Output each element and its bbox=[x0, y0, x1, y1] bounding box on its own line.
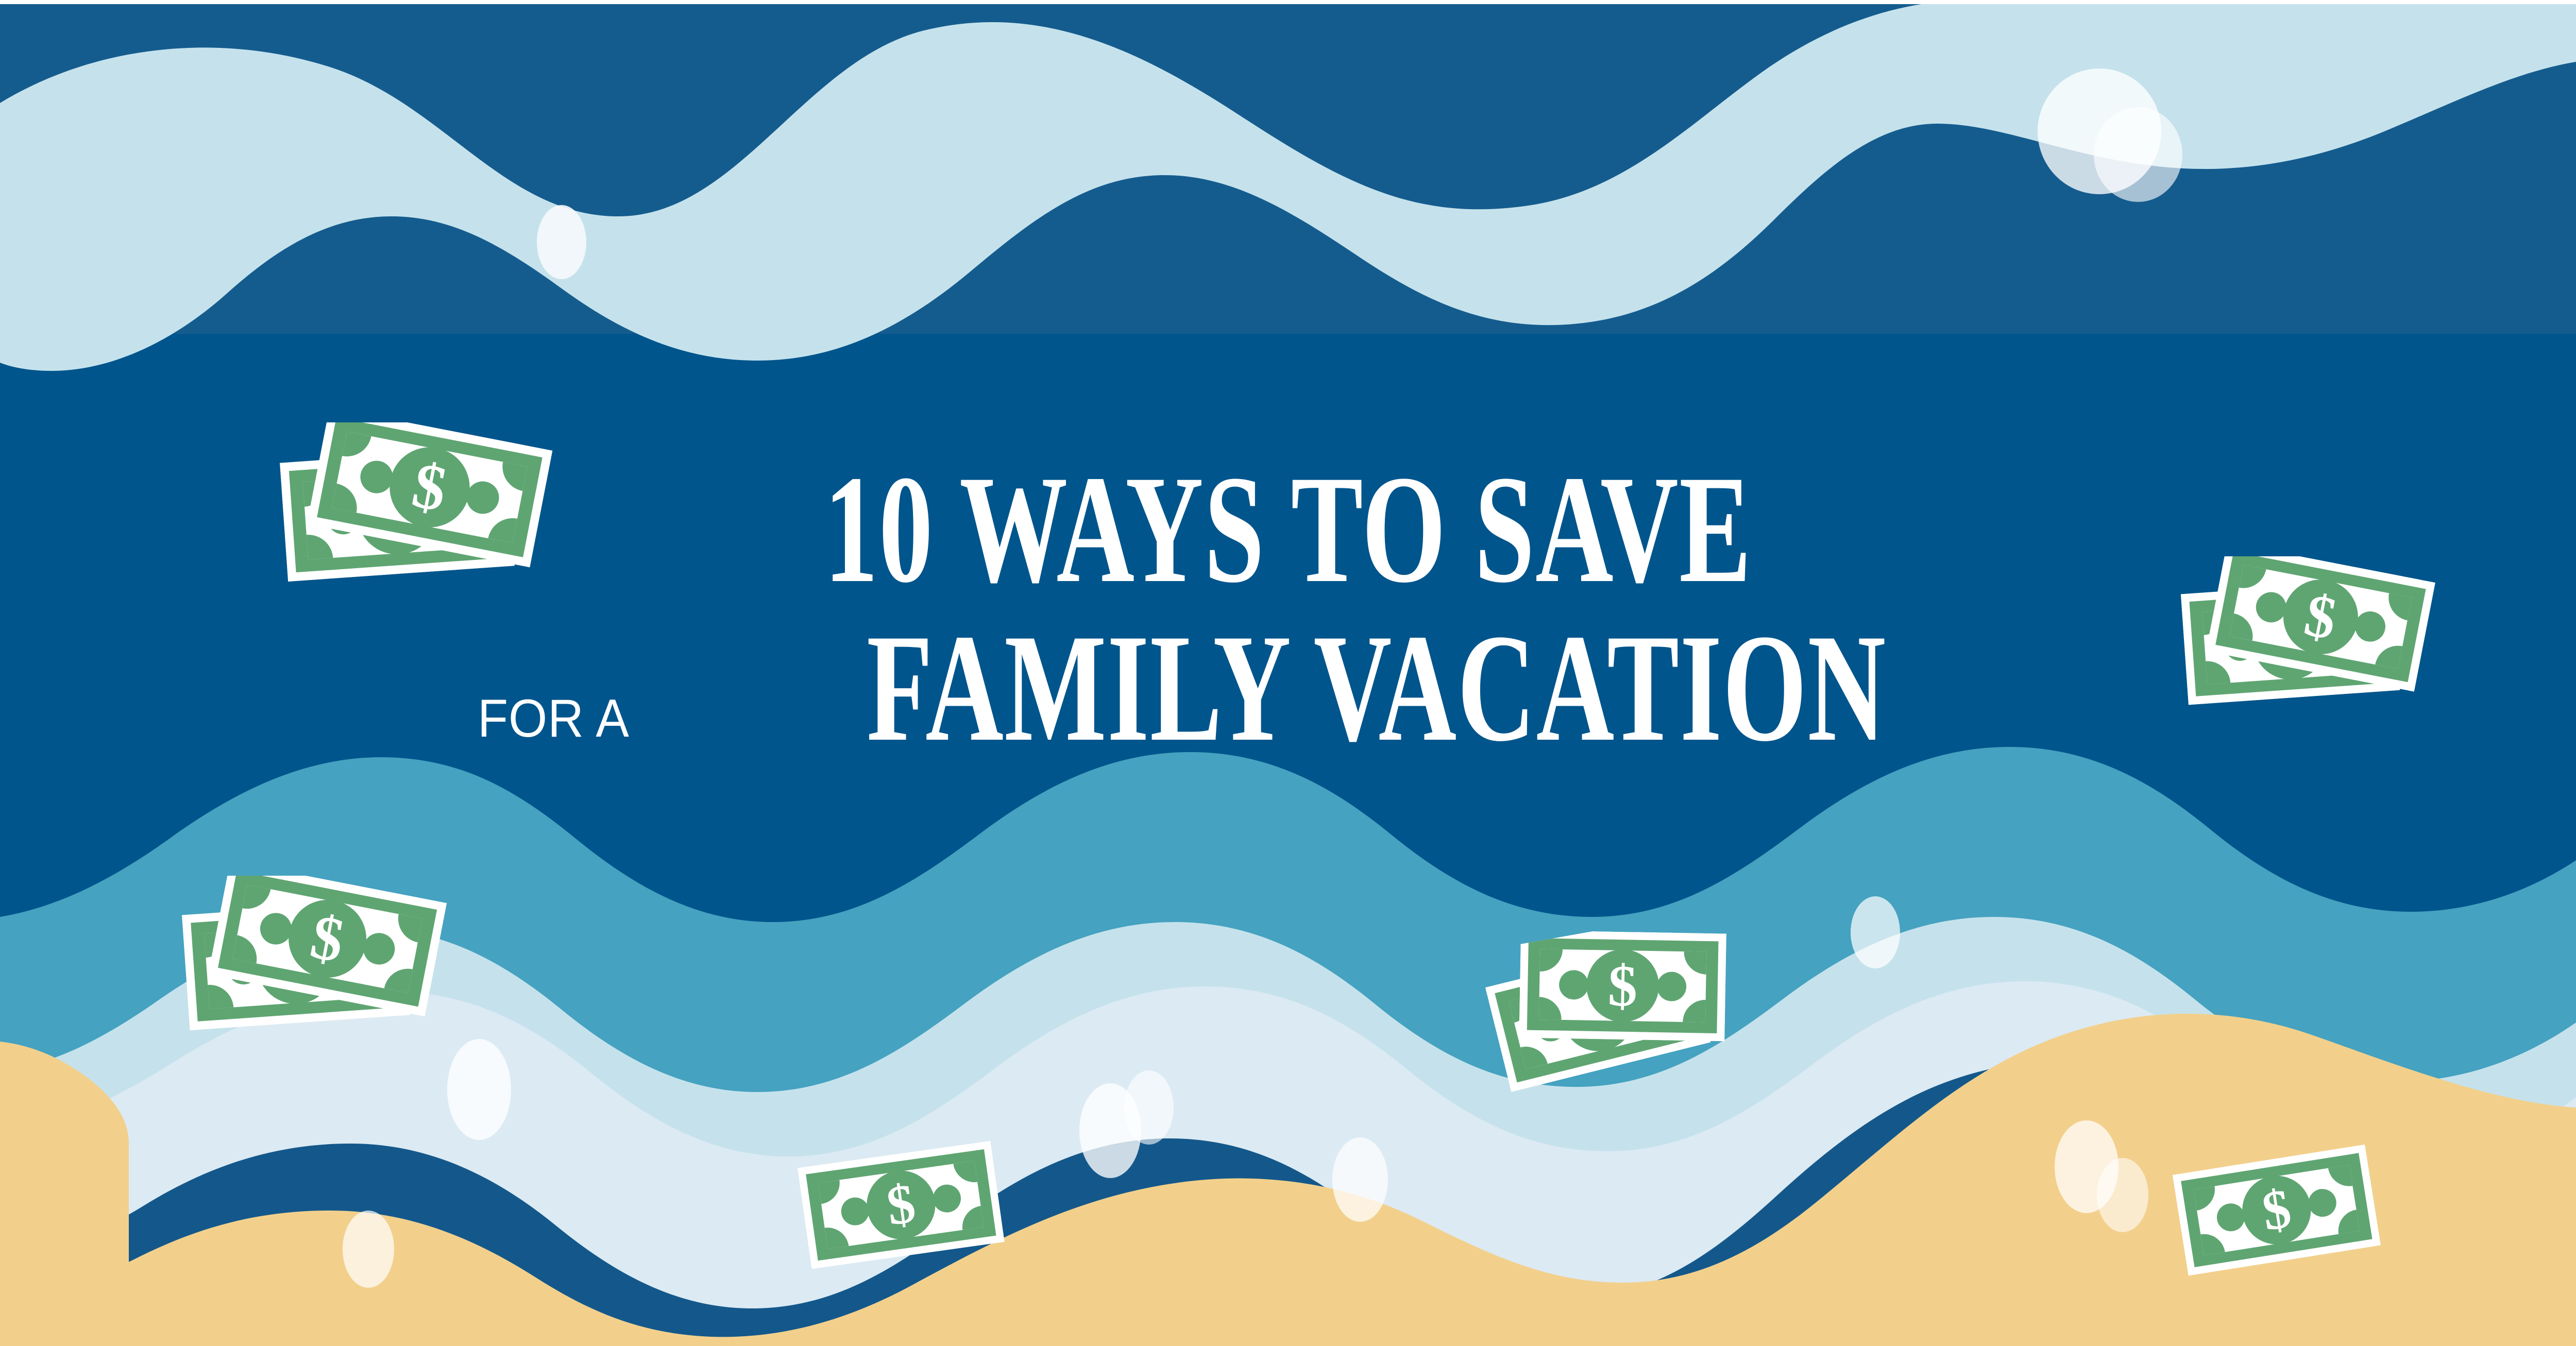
bubble-icon bbox=[343, 1211, 394, 1288]
bubble-icon bbox=[447, 1039, 511, 1140]
beach-illustration: $ bbox=[0, 0, 2576, 1346]
bubble-icon bbox=[1332, 1137, 1388, 1222]
top-edge-strip bbox=[0, 0, 2576, 4]
bubble-icon bbox=[1851, 896, 1900, 968]
banner-canvas: $ bbox=[0, 0, 2576, 1346]
bubble-icon bbox=[1124, 1070, 1174, 1145]
bubble-icon bbox=[537, 205, 586, 279]
bubble-icon bbox=[2094, 107, 2182, 202]
bubble-icon bbox=[2097, 1158, 2148, 1232]
